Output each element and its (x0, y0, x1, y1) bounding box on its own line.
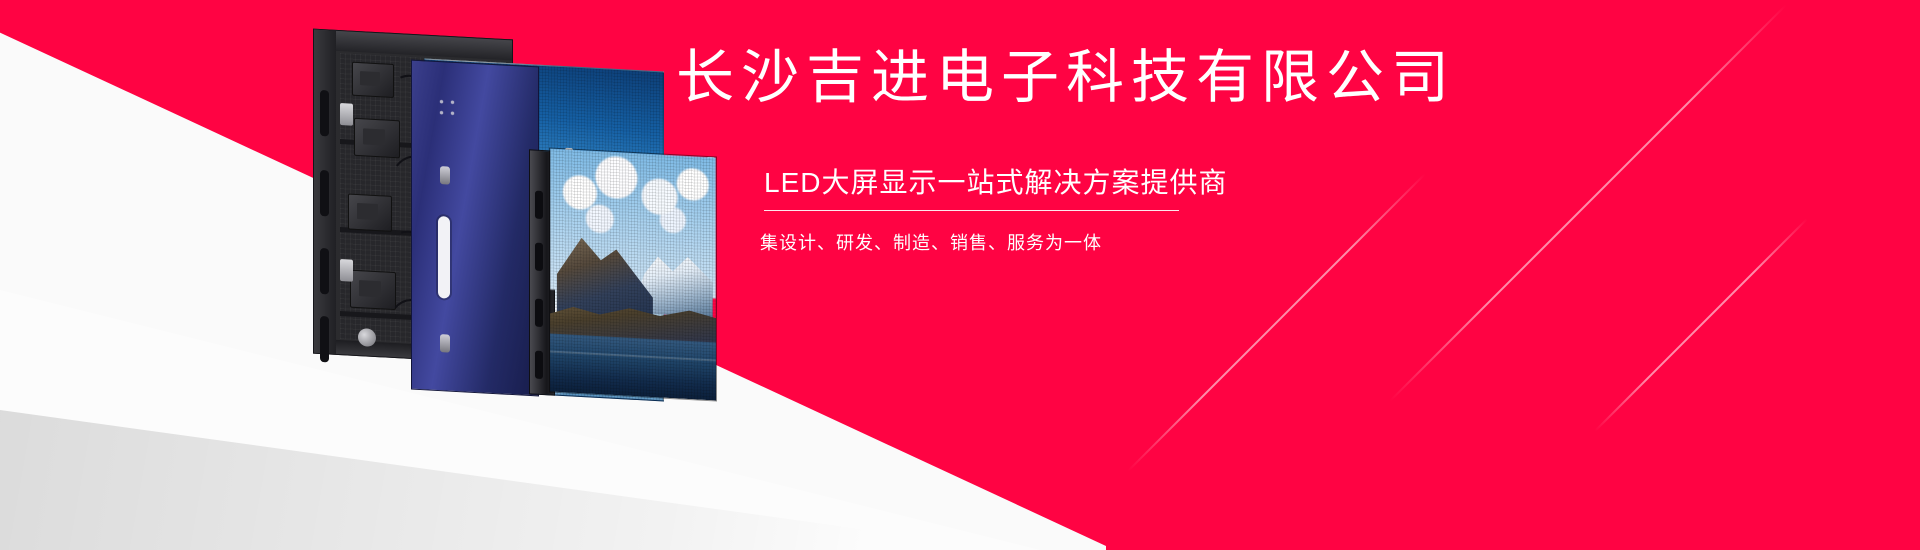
banner-subtitle: LED大屏显示一站式解决方案提供商 (764, 161, 1184, 201)
power-module-2 (354, 118, 400, 158)
front-vent-1 (535, 191, 543, 219)
led-cabinet-blue-frame (411, 60, 539, 397)
cabinet-connector-2 (340, 259, 353, 282)
banner-text-block: 长沙吉进电子科技有限公司 LED大屏显示一站式解决方案提供商 集设计、研发、制造… (676, 48, 1376, 255)
front-vent-2 (535, 243, 543, 271)
mountain-lake (550, 333, 716, 400)
cabinet-handle (438, 216, 450, 299)
power-module-3 (348, 193, 392, 231)
cabinet-slot-3 (320, 248, 329, 294)
front-vent-4 (535, 351, 543, 379)
subtitle-group: LED大屏显示一站式解决方案提供商 (764, 161, 1184, 211)
banner-tagline: 集设计、研发、制造、销售、服务为一体 (760, 229, 1376, 255)
company-title: 长沙吉进电子科技有限公司 (676, 48, 1376, 109)
cabinet-slot-1 (320, 90, 329, 136)
subtitle-divider (764, 210, 1179, 211)
cabinet-bolt-grid (436, 96, 458, 119)
cabinet-mount-knob (358, 328, 376, 347)
cabinet-lock-bottom (440, 334, 450, 353)
cabinet-lock-top (440, 166, 450, 185)
hero-banner: 长沙吉进电子科技有限公司 LED大屏显示一站式解决方案提供商 集设计、研发、制造… (0, 0, 1920, 550)
cabinet-connector-1 (340, 103, 353, 126)
power-module-4 (350, 270, 396, 310)
front-vent-3 (535, 299, 543, 327)
cabinet-slot-4 (320, 316, 329, 362)
cabinet-slot-2 (320, 170, 329, 216)
